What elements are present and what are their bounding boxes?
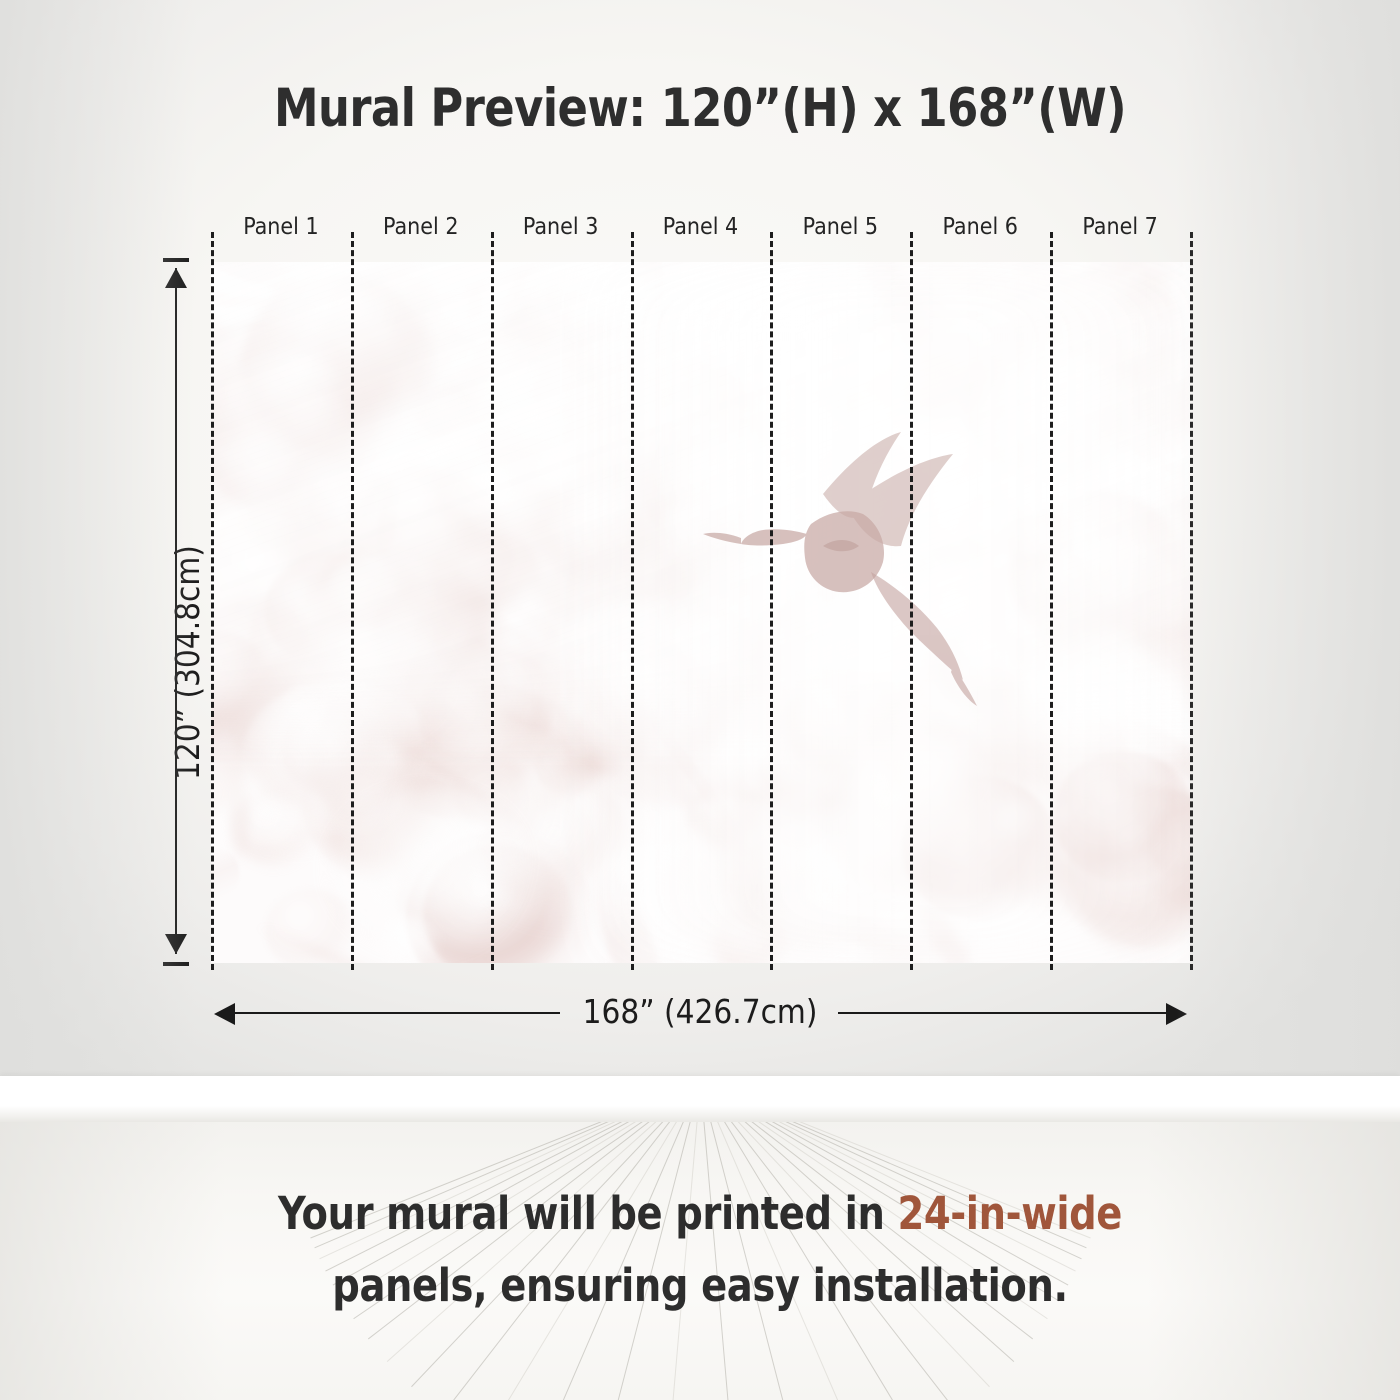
mural-preview-screenshot: Mural Preview: 120”(H) x 168”(W) Panel 1… [0, 0, 1400, 1400]
width-dimension-line-left [232, 1012, 560, 1014]
caption-line2: panels, ensuring easy installation. [332, 1259, 1067, 1312]
width-dimension-label: 168” (426.7cm) [560, 992, 840, 1031]
panel-label-7: Panel 7 [1050, 212, 1190, 246]
page-title: Mural Preview: 120”(H) x 168”(W) [42, 78, 1358, 139]
panel-label-5: Panel 5 [770, 212, 910, 246]
panel-label-4: Panel 4 [631, 212, 771, 246]
panel-divider-6 [1050, 232, 1053, 970]
panel-label-1: Panel 1 [211, 212, 351, 246]
panel-label-2: Panel 2 [351, 212, 491, 246]
panel-divider-5 [910, 232, 913, 970]
width-arrow-left-icon [214, 1003, 235, 1025]
height-dimension-cap-top [163, 258, 189, 262]
mural-edge-right [1190, 232, 1193, 970]
mural-edge-left [211, 232, 214, 970]
caption-line1: Your mural will be printed in 24-in-wide [278, 1187, 1122, 1240]
panel-divider-2 [491, 232, 494, 970]
panel-label-6: Panel 6 [910, 212, 1050, 246]
width-dimension-line-right [838, 1012, 1168, 1014]
baseboard [0, 1076, 1400, 1124]
caption-line1-text: Your mural will be printed in [278, 1187, 897, 1240]
height-dimension-cap-bottom [163, 962, 189, 966]
panel-divider-4 [770, 232, 773, 970]
height-dimension-label: 120” (304.8cm) [168, 545, 207, 780]
caption: Your mural will be printed in 24-in-wide… [35, 1178, 1365, 1322]
panel-label-3: Panel 3 [491, 212, 631, 246]
caption-accent: 24-in-wide [897, 1187, 1122, 1240]
panel-divider-1 [351, 232, 354, 970]
height-arrow-down-icon [165, 934, 187, 954]
panel-label-row: Panel 1 Panel 2 Panel 3 Panel 4 Panel 5 … [211, 212, 1190, 246]
hummingbird-icon [211, 262, 1190, 963]
width-arrow-right-icon [1166, 1003, 1187, 1025]
mural-artwork [211, 262, 1190, 963]
panel-divider-3 [631, 232, 634, 970]
